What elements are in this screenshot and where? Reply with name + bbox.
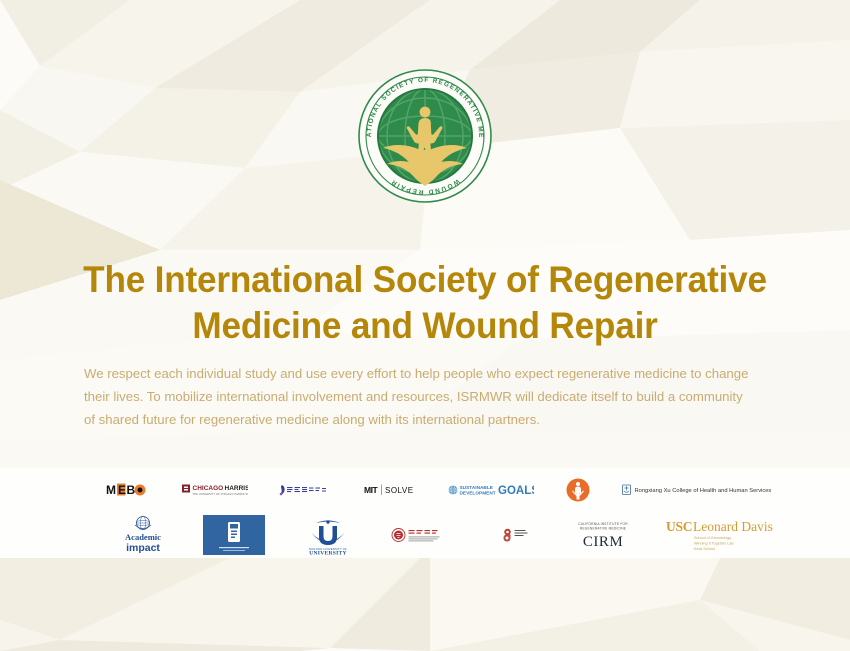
svg-text:THE UNIVERSITY OF CHICAGO HARR: THE UNIVERSITY OF CHICAGO HARRIS SCHOOL <box>193 493 249 496</box>
page-title-line2: Medicine and Wound Repair <box>21 303 829 349</box>
partner-logo-china-red-seal[interactable]: 中国人民解放军 <box>391 524 469 546</box>
partner-logo-cirm[interactable]: CALIFORNIA INSTITUTE FOR REGENERATIVE ME… <box>575 518 631 552</box>
partner-logo-usc-leonard-davis[interactable]: USC Leonard Davis School of Gerontology … <box>665 517 785 553</box>
svg-text:USC: USC <box>666 519 692 534</box>
partner-logo-row-1: M E B MEBO CHICAGO HARRIS THE UNIVERSITY… <box>0 468 850 512</box>
partner-logo-rongxiang-xu[interactable]: Rongxiang Xu College of Health and Human… <box>622 482 772 498</box>
partner-logo-band: M E B MEBO CHICAGO HARRIS THE UNIVERSITY… <box>0 468 850 558</box>
partner-logo-china-partner[interactable]: 中国生命关怀协会 <box>278 483 334 498</box>
partner-logo-un-sdg[interactable]: SUSTAINABLE DEVELOPMENT GOALS SUSTAINABL… <box>448 481 534 499</box>
orange-circle-emblem-logo-icon <box>564 476 592 504</box>
svg-text:UNIVERSITY: UNIVERSITY <box>309 551 347 556</box>
partner-logo-blue-card[interactable]: Partner Institute <box>203 515 265 555</box>
svg-text:Keck School: Keck School <box>694 547 715 551</box>
svg-text:HARRIS: HARRIS <box>225 485 249 492</box>
svg-text:Academic: Academic <box>125 532 161 542</box>
svg-text:MIT: MIT <box>364 485 378 495</box>
partner-logo-orange-emblem[interactable]: Partner Emblem <box>564 476 592 504</box>
page-root: THE INTERNATIONAL SOCIETY OF REGENERATIV… <box>0 0 850 651</box>
svg-text:Rongxiang Xu College of Health: Rongxiang Xu College of Health and Human… <box>635 488 772 494</box>
svg-text:E: E <box>118 483 126 497</box>
partner-logo-un-academic-impact[interactable]: Academic impact Academic impact <box>117 515 169 555</box>
svg-text:SOLVE: SOLVE <box>385 486 414 495</box>
chicago-harris-logo-icon: CHICAGO HARRIS THE UNIVERSITY OF CHICAGO… <box>182 482 248 498</box>
rongxiang-xu-logo-icon: Rongxiang Xu College of Health and Human… <box>622 482 772 498</box>
svg-text:CIRM: CIRM <box>583 534 623 550</box>
partner-logo-mit-solve[interactable]: MIT SOLVE MIT SOLVE <box>364 483 418 497</box>
blue-card-logo-icon <box>203 515 265 555</box>
china-red-seal-logo-icon <box>391 524 469 546</box>
svg-text:Leonard Davis: Leonard Davis <box>693 519 773 534</box>
svg-text:CHICAGO: CHICAGO <box>193 485 224 492</box>
svg-text:M: M <box>106 483 116 497</box>
svg-text:CALIFORNIA INSTITUTE FOR: CALIFORNIA INSTITUTE FOR <box>578 522 628 526</box>
partner-logo-chicago-harris[interactable]: CHICAGO HARRIS THE UNIVERSITY OF CHICAGO… <box>182 482 248 498</box>
svg-text:DEVELOPMENT: DEVELOPMENT <box>460 491 496 497</box>
svg-text:Winning It Together Lab: Winning It Together Lab <box>694 542 734 546</box>
svg-text:SUSTAINABLE: SUSTAINABLE <box>460 485 493 491</box>
svg-text:School of Gerontology: School of Gerontology <box>694 536 731 540</box>
page-title-line1: The International Society of Regenerativ… <box>83 259 767 300</box>
svg-text:impact: impact <box>126 542 160 554</box>
usc-leonard-davis-logo-icon: USC Leonard Davis School of Gerontology … <box>665 517 785 553</box>
mit-solve-logo-icon: MIT SOLVE <box>364 483 418 497</box>
isrmwr-emblem-icon: THE INTERNATIONAL SOCIETY OF REGENERATIV… <box>355 66 495 206</box>
partner-logo-university[interactable]: NANJING UNIVERSITY OF UNIVERSITY UNIVERS… <box>299 515 357 555</box>
partner-logo-b-mark[interactable]: B Mark <box>503 525 541 545</box>
mission-paragraph: We respect each individual study and use… <box>84 362 754 431</box>
svg-text:B: B <box>127 483 136 497</box>
un-academic-impact-logo-icon: Academic impact <box>117 515 169 555</box>
china-partner-logo-icon <box>278 483 334 498</box>
partner-logo-row-2: Academic impact Academic impact Partner … <box>0 512 850 558</box>
partner-logo-mebo[interactable]: M E B MEBO <box>106 482 152 498</box>
b-mark-logo-icon <box>503 525 541 545</box>
page-title: The International Society of Regenerativ… <box>21 257 829 349</box>
un-sdg-logo-icon: SUSTAINABLE DEVELOPMENT GOALS <box>448 481 534 499</box>
cirm-logo-icon: CALIFORNIA INSTITUTE FOR REGENERATIVE ME… <box>575 518 631 552</box>
mebo-logo-icon: M E B <box>106 482 152 498</box>
university-logo-icon: NANJING UNIVERSITY OF UNIVERSITY <box>299 515 357 555</box>
svg-text:REGENERATIVE MEDICINE: REGENERATIVE MEDICINE <box>580 527 627 531</box>
society-emblem: THE INTERNATIONAL SOCIETY OF REGENERATIV… <box>355 66 495 206</box>
svg-text:GOALS: GOALS <box>498 485 534 497</box>
